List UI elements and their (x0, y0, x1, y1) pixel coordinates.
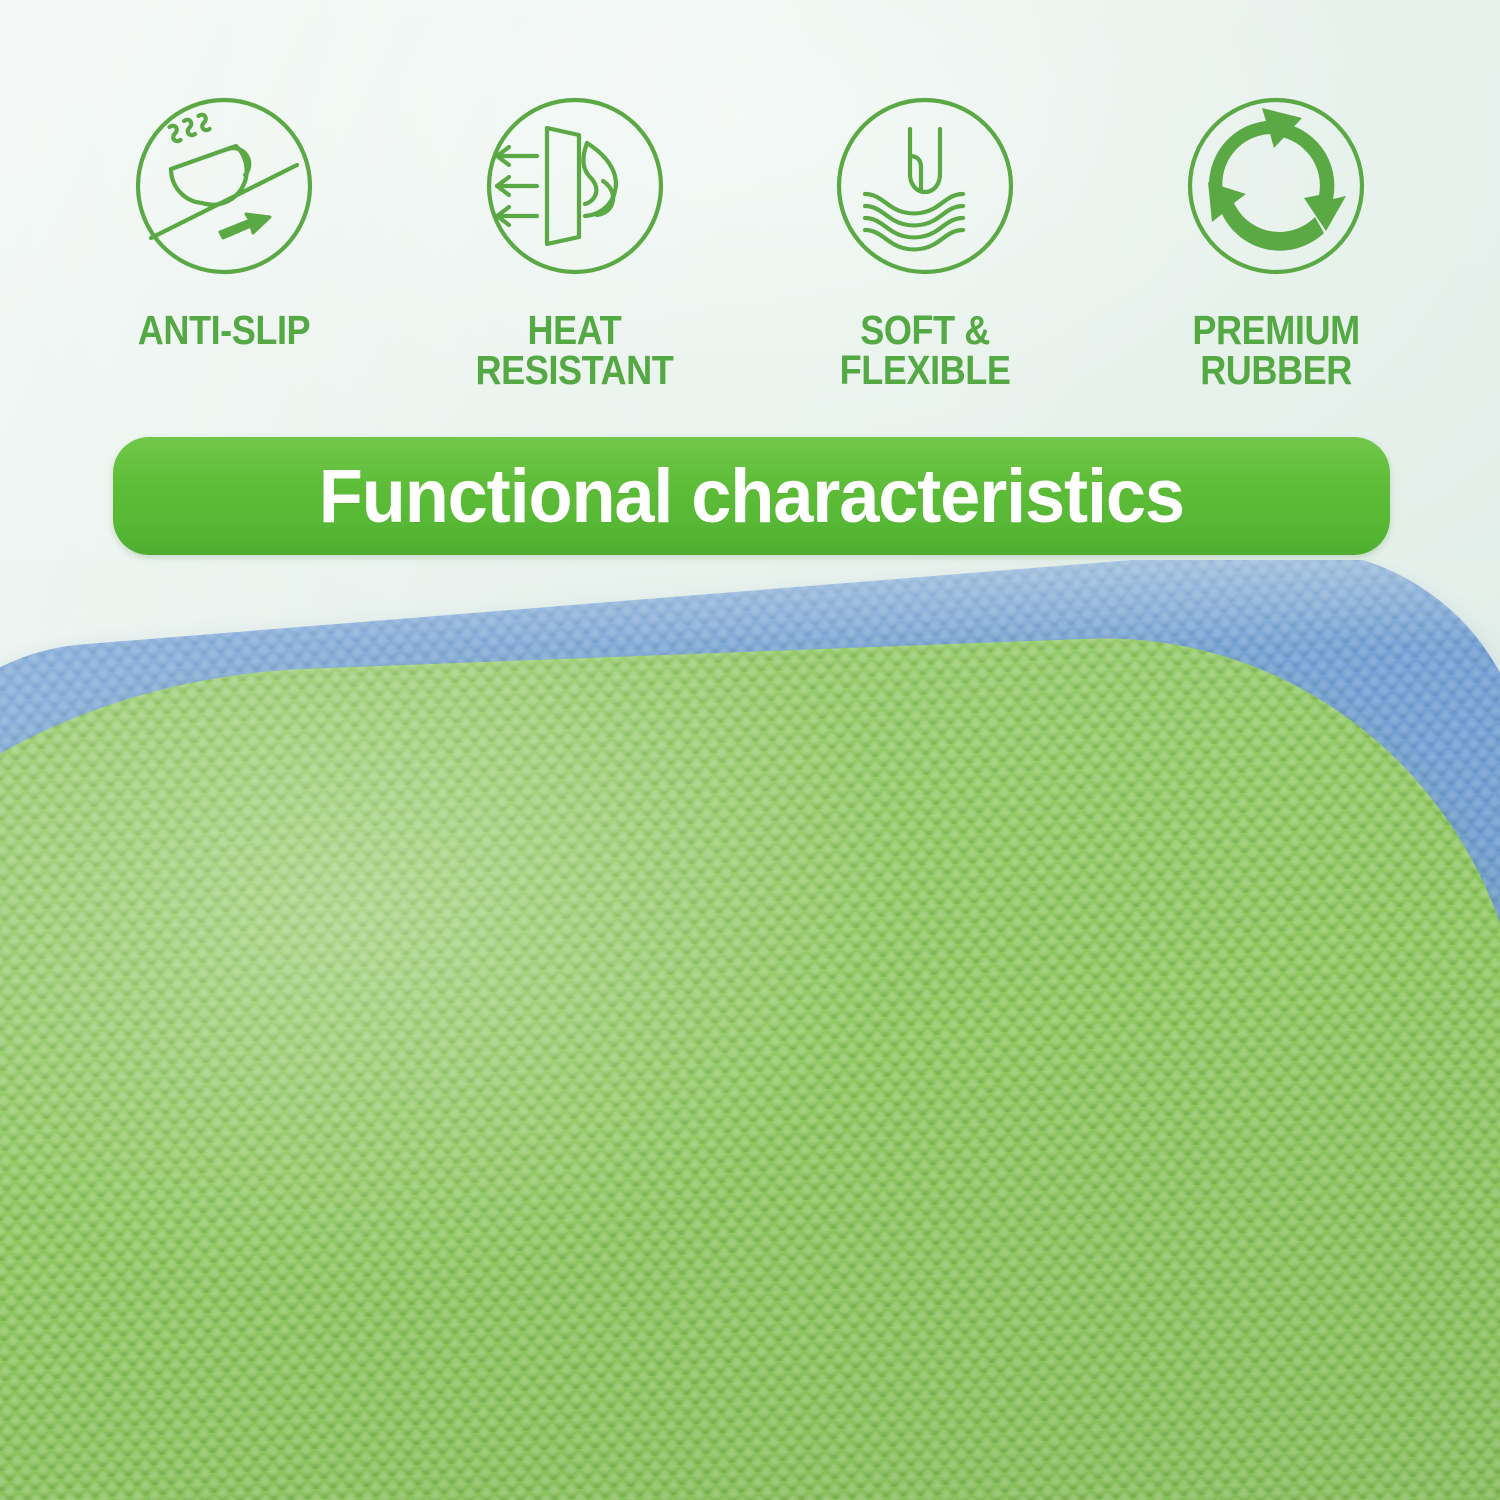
product-infographic: ANTI-SLIP (0, 0, 1500, 1500)
feature-label: SOFT & FLEXIBLE (840, 310, 1011, 390)
feature-heat-resistant: HEAT RESISTANT (425, 86, 725, 390)
feature-soft-flexible: SOFT & FLEXIBLE (775, 86, 1075, 390)
soft-flexible-finger-press-waves-icon (825, 86, 1025, 286)
feature-label: ANTI-SLIP (138, 310, 310, 350)
feature-premium-rubber: PREMIUM RUBBER (1126, 86, 1426, 390)
green-mat (0, 623, 1500, 1500)
anti-slip-cup-on-slope-icon (124, 86, 324, 286)
banner-title: Functional characteristics (319, 453, 1184, 540)
heat-resistant-flame-barrier-icon (475, 86, 675, 286)
feature-label: HEAT RESISTANT (476, 310, 674, 390)
feature-anti-slip: ANTI-SLIP (74, 86, 374, 390)
feature-row: ANTI-SLIP (0, 86, 1500, 390)
functional-characteristics-banner: Functional characteristics (113, 437, 1390, 555)
feature-label: PREMIUM RUBBER (1192, 310, 1359, 390)
product-photo (0, 560, 1500, 1500)
premium-rubber-recycle-arrows-icon (1176, 86, 1376, 286)
green-mat-sheen (0, 623, 1500, 1500)
